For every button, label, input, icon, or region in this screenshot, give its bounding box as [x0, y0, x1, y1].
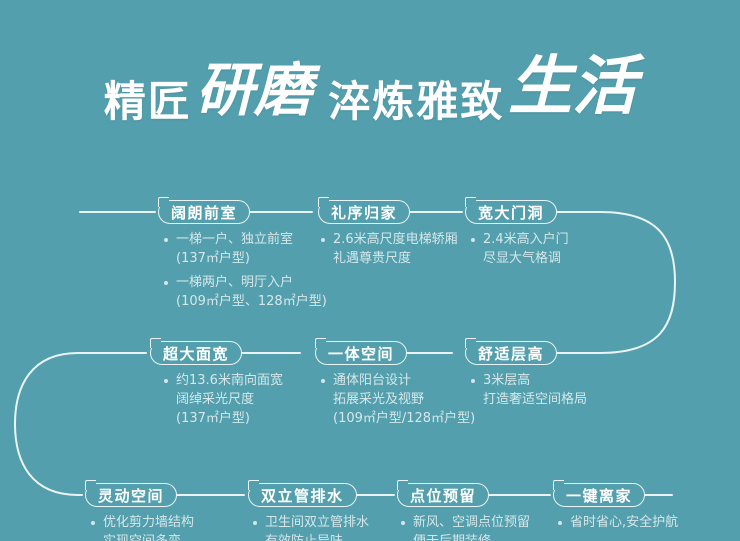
- node-content-shushicenggao: 3米层高 打造奢适空间格局: [470, 371, 660, 414]
- connector-left-u-curve: [15, 353, 146, 495]
- node-content-yijianlijia: 省时省心,安全护航: [557, 513, 740, 537]
- node-label-shuangliguanpaishui[interactable]: 双立管排水: [248, 483, 357, 507]
- node-label-yijianlijia[interactable]: 一键离家: [553, 483, 645, 507]
- node-label-kuolangqianshi[interactable]: 阔朗前室: [158, 200, 250, 224]
- node-label-shushicenggao[interactable]: 舒适层高: [465, 341, 557, 365]
- node-label-text: 灵动空间: [98, 485, 164, 506]
- node-label-dianweiyuliu[interactable]: 点位预留: [397, 483, 489, 507]
- node-label-chaodamiankuan[interactable]: 超大面宽: [150, 341, 242, 365]
- node-label-text: 礼序归家: [331, 202, 397, 223]
- bullet-item: 一梯两户、明厅入户 (109㎡户型、128㎡户型): [163, 273, 353, 311]
- bullet-main: 省时省心,安全护航: [570, 513, 740, 532]
- poster-title: 精匠研磨 淬炼雅致生活: [0, 34, 740, 144]
- node-label-kuandamendong[interactable]: 宽大门洞: [465, 200, 557, 224]
- title-part-3: 淬炼雅致: [328, 77, 504, 126]
- node-label-text: 超大面宽: [163, 343, 229, 364]
- bullet-main: 2.4米高入户门: [483, 230, 660, 249]
- title-part-4: 生活: [508, 49, 636, 124]
- bullet-main: 一梯两户、明厅入户: [176, 273, 353, 292]
- node-label-text: 点位预留: [410, 485, 476, 506]
- bullet-item: 2.4米高入户门 尽显大气格调: [470, 230, 660, 268]
- bullet-sub: 尽显大气格调: [483, 249, 660, 268]
- title-part-2: 研磨: [196, 56, 312, 124]
- node-label-text: 双立管排水: [261, 485, 344, 506]
- node-label-lixuguijia[interactable]: 礼序归家: [318, 200, 410, 224]
- bullet-item: 省时省心,安全护航: [557, 513, 740, 532]
- title-part-1: 精匠: [104, 77, 192, 126]
- poster-canvas: 精匠研磨 淬炼雅致生活 阔朗前室 一梯一户、独立前室 (137㎡户型) 一梯两户…: [0, 0, 740, 541]
- bullet-sub: (109㎡户型、128㎡户型): [176, 292, 353, 311]
- node-label-yitikongjian[interactable]: 一体空间: [315, 341, 407, 365]
- title-text: 精匠研磨 淬炼雅致生活: [104, 43, 637, 135]
- node-label-text: 阔朗前室: [171, 202, 237, 223]
- node-content-kuandamendong: 2.4米高入户门 尽显大气格调: [470, 230, 660, 273]
- node-label-text: 一体空间: [328, 343, 394, 364]
- bullet-item: 3米层高 打造奢适空间格局: [470, 371, 660, 409]
- bullet-main: 3米层高: [483, 371, 660, 390]
- node-label-text: 一键离家: [566, 485, 632, 506]
- node-label-text: 宽大门洞: [478, 202, 544, 223]
- bullet-sub: 打造奢适空间格局: [483, 390, 660, 409]
- node-label-lingdongkongjian[interactable]: 灵动空间: [85, 483, 177, 507]
- node-label-text: 舒适层高: [478, 343, 544, 364]
